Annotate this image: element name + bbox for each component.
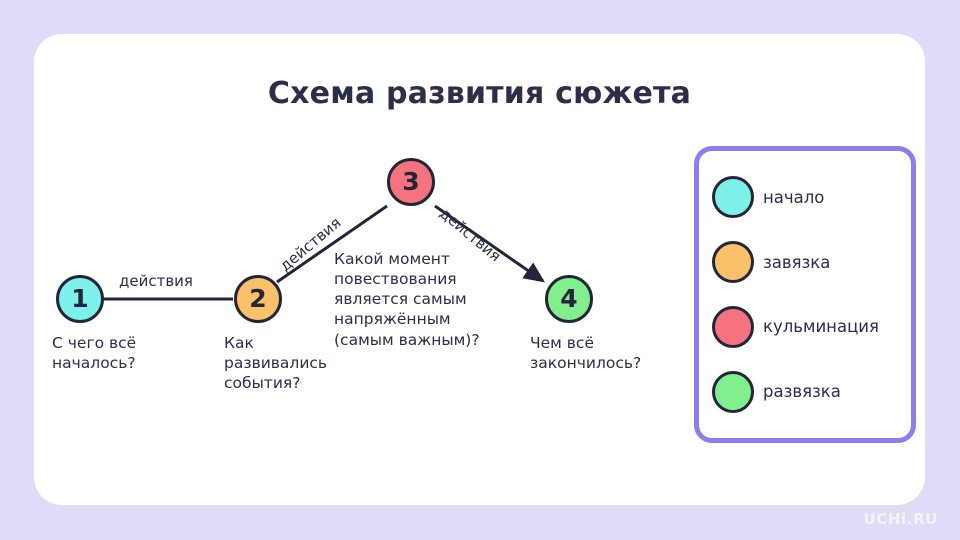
node-1[interactable]: 1: [56, 275, 104, 323]
node-1-caption: С чего всё началось?: [52, 333, 202, 373]
legend-item-zavyazka: завязка: [699, 241, 911, 283]
node-3-number: 3: [402, 169, 419, 194]
node-2-caption: Как развивались события?: [224, 333, 344, 393]
node-3[interactable]: 3: [387, 158, 435, 206]
edge-label-1-2: действия: [119, 272, 193, 290]
legend-box: начало завязка кульминация развязка: [694, 146, 916, 443]
legend-item-nachalo: начало: [699, 176, 911, 218]
legend-item-kulminaciya: кульминация: [699, 306, 911, 348]
node-4-number: 4: [560, 286, 577, 311]
watermark-logo: UCHi.RU: [863, 510, 938, 528]
legend-label-razvyazka: развязка: [763, 382, 841, 401]
node-3-caption: Какой момент повествования является самы…: [334, 249, 534, 350]
legend-dot-kulminaciya: [712, 306, 754, 348]
node-2-number: 2: [249, 286, 266, 311]
node-4-caption: Чем всё закончилось?: [530, 333, 690, 373]
legend-dot-razvyazka: [712, 371, 754, 413]
legend-label-nachalo: начало: [763, 188, 824, 207]
legend-dot-nachalo: [712, 176, 754, 218]
legend-item-razvyazka: развязка: [699, 371, 911, 413]
node-1-number: 1: [71, 286, 88, 311]
node-4[interactable]: 4: [545, 275, 593, 323]
legend-label-kulminaciya: кульминация: [763, 317, 879, 336]
legend-label-zavyazka: завязка: [763, 253, 830, 272]
node-2[interactable]: 2: [234, 275, 282, 323]
content-card: Схема развития сюжета 1 С чего всё начал…: [34, 34, 925, 505]
legend-dot-zavyazka: [712, 241, 754, 283]
